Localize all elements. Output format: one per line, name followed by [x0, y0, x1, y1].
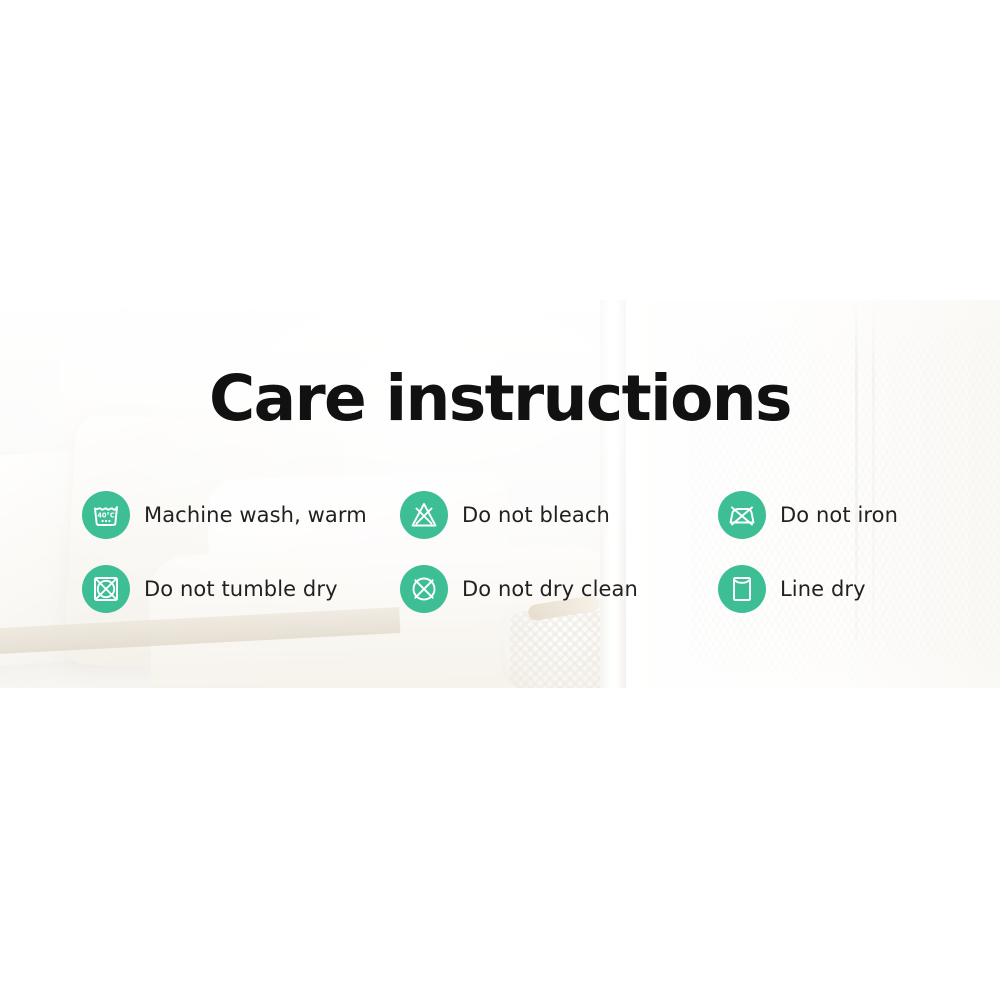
care-item-do-not-iron[interactable]: Do not iron: [718, 491, 982, 539]
do-not-bleach-triangle-icon: [400, 491, 448, 539]
care-instructions-banner: Care instructions 40°C Machine wash, war…: [0, 0, 1000, 1000]
do-not-tumble-dry-icon: [82, 565, 130, 613]
do-not-iron-icon: [718, 491, 766, 539]
wash-tub-40c-icon: 40°C: [82, 491, 130, 539]
care-item-label: Do not iron: [780, 502, 898, 528]
care-instruction-grid: 40°C Machine wash, warm Do not bleach: [82, 478, 982, 626]
do-not-dry-clean-icon: [400, 565, 448, 613]
line-dry-icon: [718, 565, 766, 613]
care-item-label: Line dry: [780, 576, 866, 602]
care-item-line-dry[interactable]: Line dry: [718, 565, 982, 613]
care-item-label: Do not dry clean: [462, 576, 638, 602]
care-item-label: Machine wash, warm: [144, 502, 367, 528]
care-item-do-not-tumble-dry[interactable]: Do not tumble dry: [82, 565, 400, 613]
care-item-label: Do not tumble dry: [144, 576, 338, 602]
care-item-machine-wash[interactable]: 40°C Machine wash, warm: [82, 491, 400, 539]
svg-text:40°C: 40°C: [97, 511, 114, 519]
care-item-label: Do not bleach: [462, 502, 610, 528]
page-title: Care instructions: [0, 362, 1000, 436]
care-item-do-not-dry-clean[interactable]: Do not dry clean: [400, 565, 718, 613]
care-item-do-not-bleach[interactable]: Do not bleach: [400, 491, 718, 539]
